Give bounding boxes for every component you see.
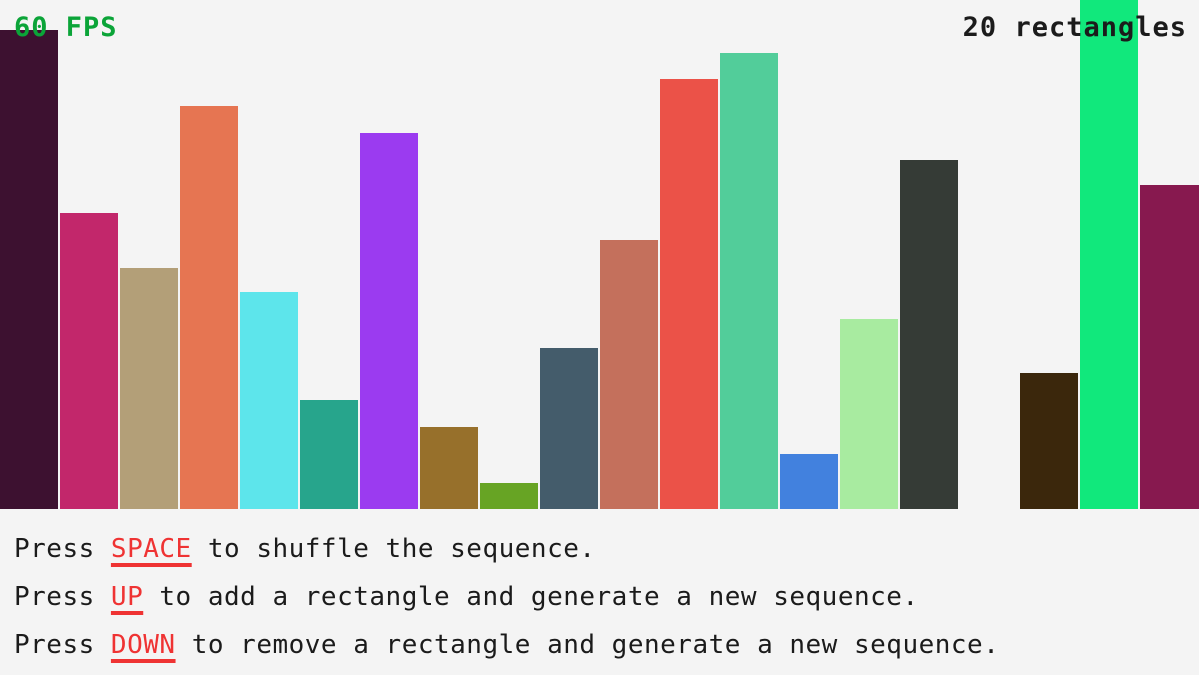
bar-2 xyxy=(60,213,118,509)
instruction-suffix: to remove a rectangle and generate a new… xyxy=(176,630,1000,660)
instruction-line-shuffle: Press SPACE to shuffle the sequence. xyxy=(14,525,1199,573)
bar-1 xyxy=(0,30,58,509)
bar-20 xyxy=(1140,185,1199,509)
bar-14 xyxy=(780,454,838,509)
bar-5 xyxy=(240,292,298,509)
bar-9 xyxy=(480,483,538,509)
bar-16 xyxy=(900,160,958,509)
bar-15 xyxy=(840,319,898,509)
instruction-line-add: Press UP to add a rectangle and generate… xyxy=(14,573,1199,621)
key-up[interactable]: UP xyxy=(111,582,143,612)
bar-chart-canvas[interactable] xyxy=(0,0,1199,509)
bar-6 xyxy=(300,400,358,509)
key-space[interactable]: SPACE xyxy=(111,534,192,564)
instruction-prefix: Press xyxy=(14,630,111,660)
app-window: 60 FPS 20 rectangles Press SPACE to shuf… xyxy=(0,0,1199,675)
bar-4 xyxy=(180,106,238,509)
instruction-prefix: Press xyxy=(14,534,111,564)
bar-7 xyxy=(360,133,418,509)
bar-8 xyxy=(420,427,478,509)
bar-13 xyxy=(720,53,778,509)
key-down[interactable]: DOWN xyxy=(111,630,176,660)
instruction-suffix: to shuffle the sequence. xyxy=(192,534,596,564)
instruction-prefix: Press xyxy=(14,582,111,612)
bar-3 xyxy=(120,268,178,509)
instructions-panel: Press SPACE to shuffle the sequence. Pre… xyxy=(0,509,1199,675)
bar-11 xyxy=(600,240,658,509)
fps-counter: 60 FPS xyxy=(14,14,118,41)
bar-19 xyxy=(1080,0,1138,509)
instruction-line-remove: Press DOWN to remove a rectangle and gen… xyxy=(14,621,1199,669)
bar-12 xyxy=(660,79,718,509)
rectangle-count-label: 20 rectangles xyxy=(963,14,1187,41)
bar-18 xyxy=(1020,373,1078,509)
instruction-suffix: to add a rectangle and generate a new se… xyxy=(143,582,918,612)
bar-10 xyxy=(540,348,598,509)
